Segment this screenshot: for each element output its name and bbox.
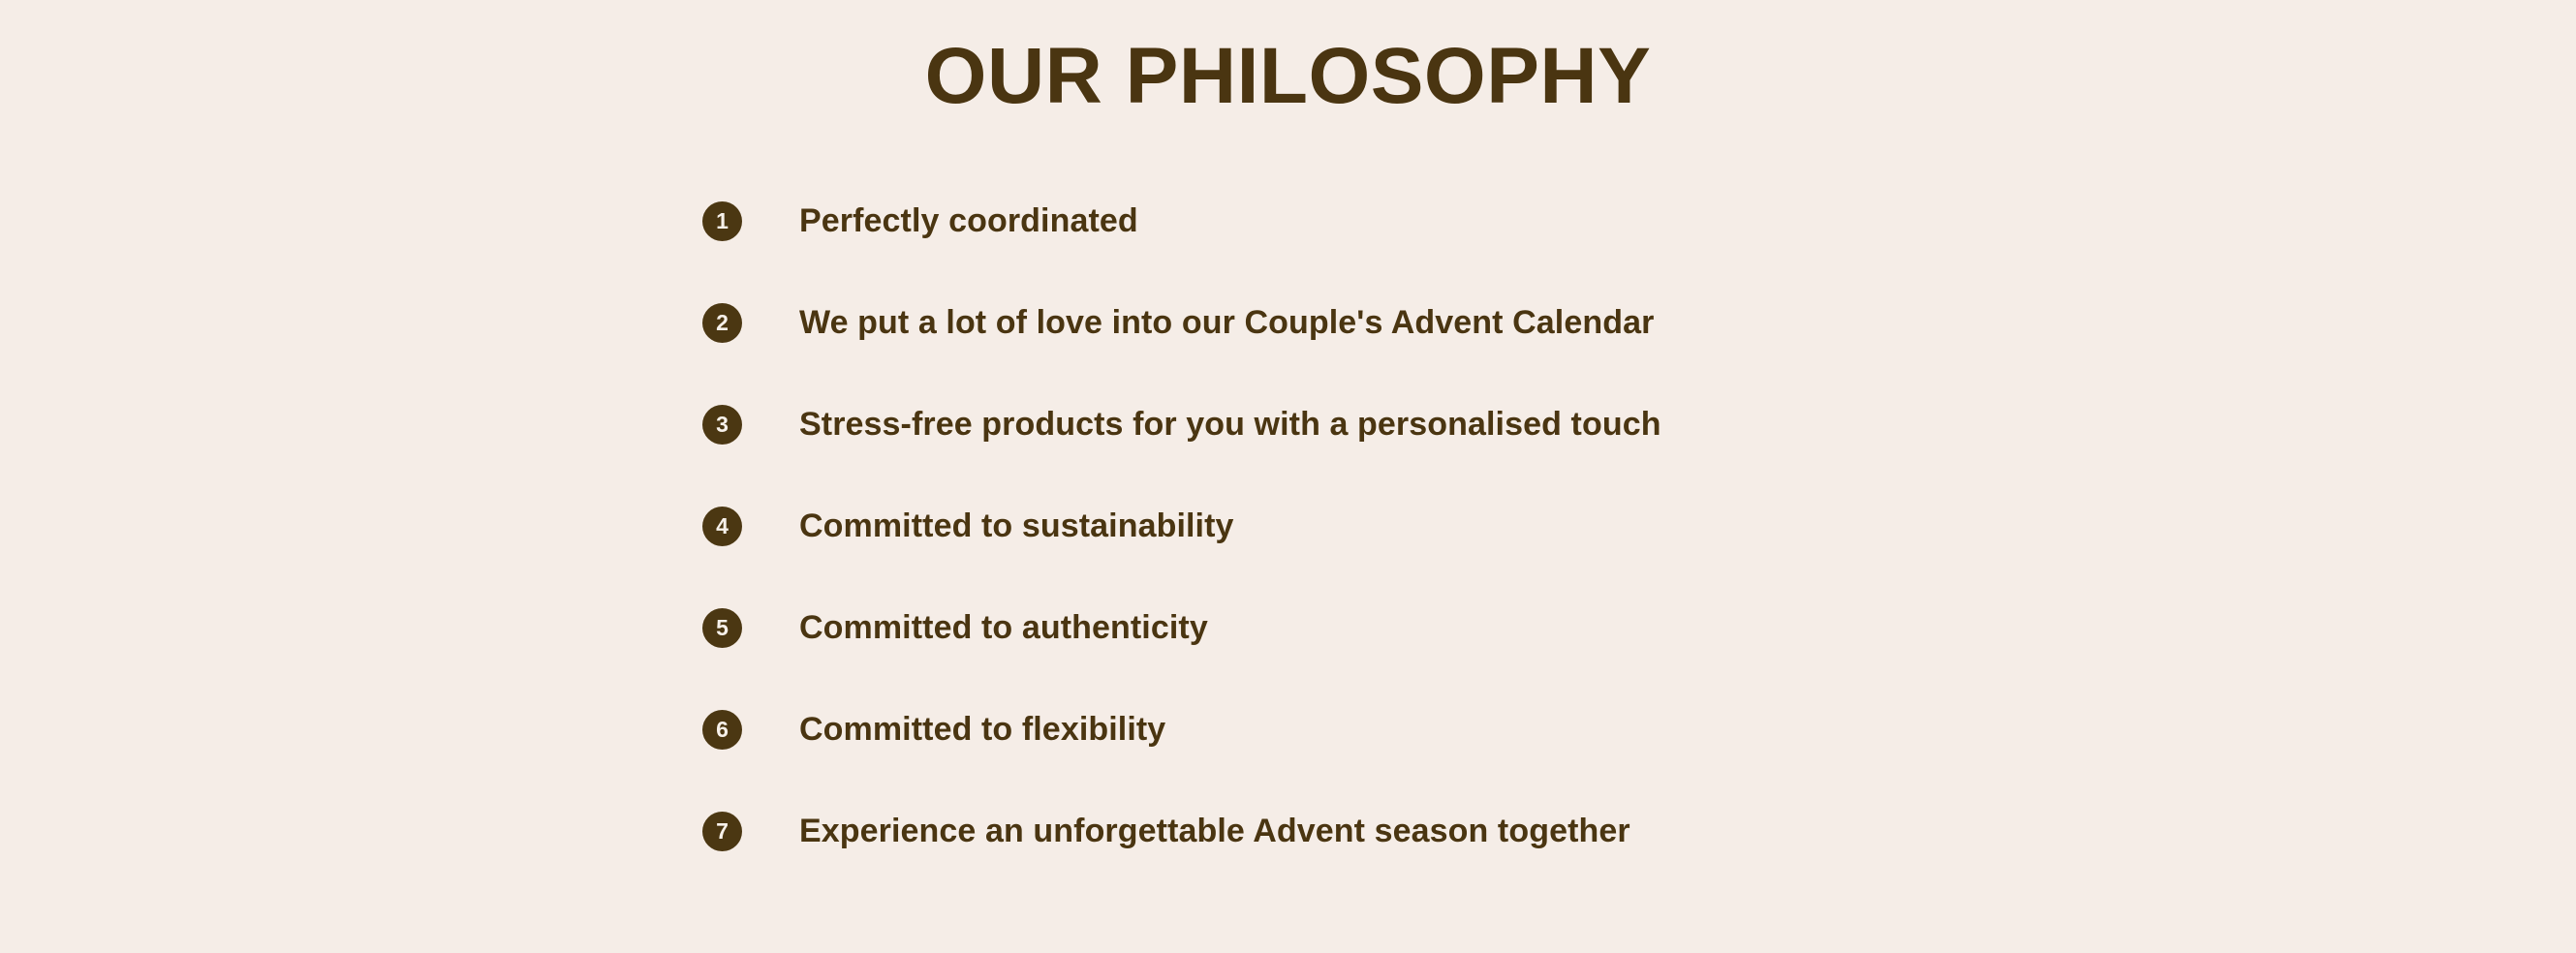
list-item: 3 Stress-free products for you with a pe… [702, 395, 2349, 453]
list-item-number-badge: 4 [702, 507, 742, 546]
list-item: 7 Experience an unforgettable Advent sea… [702, 802, 2349, 860]
list-item-number-badge: 5 [702, 608, 742, 648]
list-item-label: Perfectly coordinated [799, 201, 1138, 241]
philosophy-section: OUR PHILOSOPHY 1 Perfectly coordinated 2… [0, 0, 2576, 953]
list-item: 2 We put a lot of love into our Couple's… [702, 293, 2349, 352]
list-item-number-badge: 3 [702, 405, 742, 445]
list-item-label: Committed to authenticity [799, 608, 1208, 648]
list-item: 5 Committed to authenticity [702, 599, 2349, 657]
list-item: 4 Committed to sustainability [702, 497, 2349, 555]
list-item-number-badge: 6 [702, 710, 742, 750]
page-title: OUR PHILOSOPHY [0, 0, 2576, 118]
list-item: 6 Committed to flexibility [702, 700, 2349, 758]
list-item: 1 Perfectly coordinated [702, 192, 2349, 250]
list-item-label: We put a lot of love into our Couple's A… [799, 303, 1654, 343]
list-item-label: Committed to sustainability [799, 507, 1234, 546]
list-item-number-badge: 7 [702, 812, 742, 851]
list-item-label: Experience an unforgettable Advent seaso… [799, 812, 1630, 851]
philosophy-list: 1 Perfectly coordinated 2 We put a lot o… [702, 192, 2349, 860]
list-item-label: Committed to flexibility [799, 710, 1165, 750]
list-item-number-badge: 1 [702, 201, 742, 241]
list-item-label: Stress-free products for you with a pers… [799, 405, 1661, 445]
list-item-number-badge: 2 [702, 303, 742, 343]
